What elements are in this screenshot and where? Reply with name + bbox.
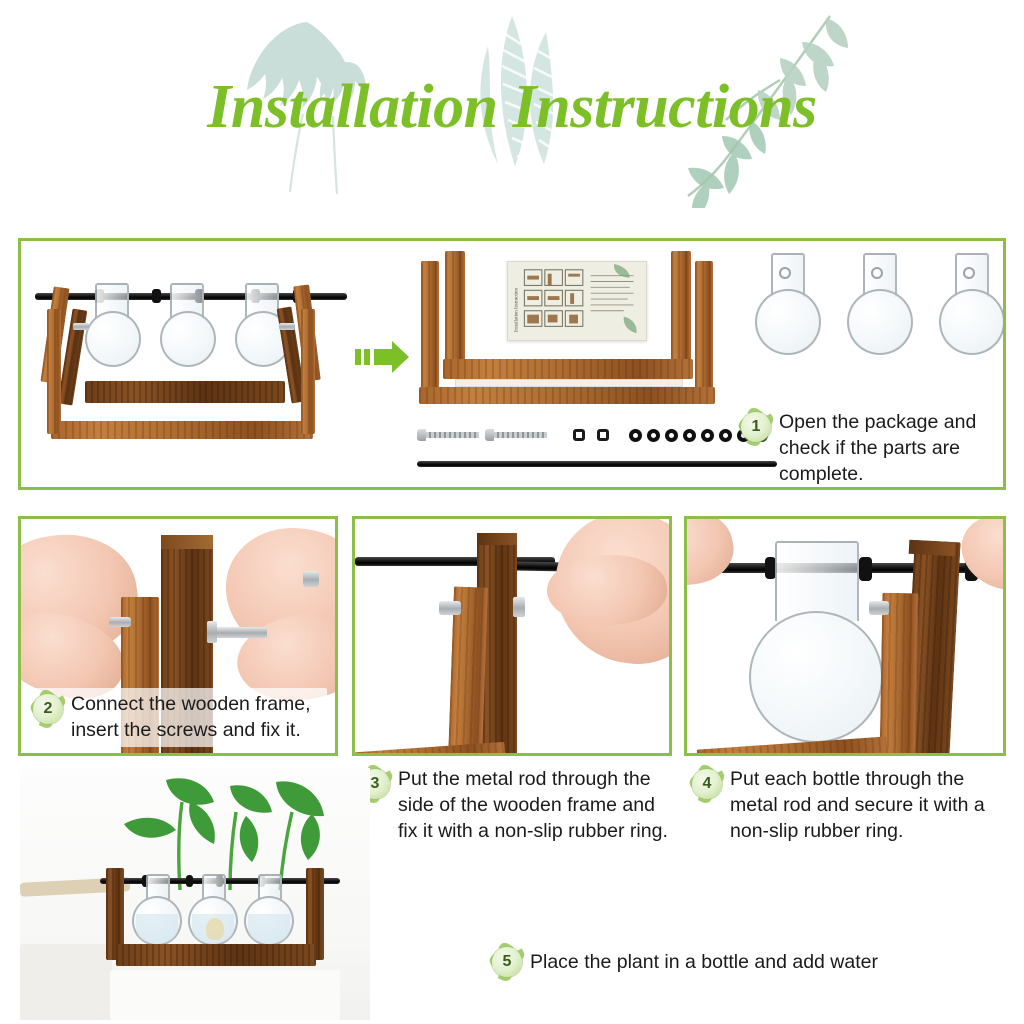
parts-overview-photo: Installation Instruction <box>21 241 1003 487</box>
screw-head <box>869 601 889 615</box>
rubber-ring-part <box>701 429 714 442</box>
metal-rod-part <box>417 461 777 467</box>
frame-piece-right-outer <box>695 261 713 389</box>
screw-in-hand <box>303 571 319 587</box>
glass-bottle-single <box>841 253 919 381</box>
screw-head-left <box>73 323 89 330</box>
step-1-badge: 1 <box>739 410 773 444</box>
screw-head <box>439 601 461 615</box>
frame-upright-front <box>880 593 919 756</box>
assemble-frame-photo: 2 Connect the wooden frame, insert the s… <box>21 519 335 753</box>
screw-1 <box>417 429 479 441</box>
screw-head-right <box>279 323 295 330</box>
hardware-photo <box>413 419 725 479</box>
screw-inserted-right <box>209 627 267 638</box>
glass-bottle-neck <box>775 541 859 621</box>
finished-product-photo <box>20 768 370 1020</box>
glass-bottle-with-water <box>130 874 186 948</box>
stand-base <box>116 944 316 966</box>
rubber-ring <box>152 289 161 303</box>
table-surface <box>110 970 340 1020</box>
step-3-badge: 3 <box>358 767 392 801</box>
frame-leg-left <box>47 309 61 434</box>
instruction-card: Installation Instruction <box>507 261 647 341</box>
step-5-number: 5 <box>490 945 524 979</box>
step-4-number: 4 <box>690 767 724 801</box>
step-3-number: 3 <box>358 767 392 801</box>
rubber-ring <box>859 557 872 581</box>
parts-overview-panel: Installation Instruction <box>18 238 1006 490</box>
frame-base <box>51 421 313 439</box>
rubber-ring-part <box>683 429 696 442</box>
step-4-badge: 4 <box>690 767 724 801</box>
svg-text:Installation Instruction: Installation Instruction <box>515 287 520 332</box>
neck-hole <box>871 267 883 279</box>
assembled-stand-photo <box>29 249 349 479</box>
frame-piece-base <box>419 387 715 404</box>
frame-leg-right <box>301 309 315 434</box>
frame-shelf <box>85 381 285 403</box>
glass-bottle-single <box>933 253 1006 381</box>
rod-sleeve <box>455 379 683 387</box>
green-arrow-icon <box>355 339 409 375</box>
glass-bottle <box>160 311 216 367</box>
hang-bottle-panel <box>684 516 1006 756</box>
step-1-caption: 1 Open the package and check if the part… <box>739 409 989 487</box>
plant-roots <box>206 918 224 940</box>
insert-rod-panel <box>352 516 672 756</box>
step-5-badge: 5 <box>490 945 524 979</box>
step-4-text: Put each bottle through the metal rod an… <box>730 766 1002 844</box>
neck-hole <box>963 267 975 279</box>
step-2-text: Connect the wooden frame, insert the scr… <box>71 691 321 743</box>
step-5-text: Place the plant in a bottle and add wate… <box>530 949 878 975</box>
step-5-caption: 5 Place the plant in a bottle and add wa… <box>490 944 960 979</box>
background-box <box>20 944 112 1020</box>
step-3-text: Put the metal rod through the side of th… <box>398 766 670 844</box>
header-banner: Installation Instructions <box>0 0 1024 232</box>
hex-nut-1 <box>573 429 585 441</box>
hang-bottle-photo <box>687 519 1003 753</box>
frame-piece-bottom <box>443 359 693 379</box>
glass-bottle <box>85 311 141 367</box>
glass-bottle-single <box>749 253 827 381</box>
screw-2 <box>485 429 547 441</box>
rubber-ring-part <box>647 429 660 442</box>
left-hand <box>684 516 740 594</box>
right-hand <box>955 516 1006 596</box>
glass-bottle-with-water <box>186 874 242 948</box>
hex-nut-2 <box>597 429 609 441</box>
neck-hole <box>779 267 791 279</box>
frame-base-edge <box>697 736 888 756</box>
step-2-badge: 2 <box>31 692 65 726</box>
screw-washer <box>207 621 217 643</box>
step-1-number: 1 <box>739 410 773 444</box>
step-4-caption: 4 Put each bottle through the metal rod … <box>690 766 1002 844</box>
frame-base-edge <box>355 742 506 756</box>
disassembled-frame-photo: Installation Instruction <box>413 247 725 407</box>
glass-bottle <box>749 611 883 743</box>
frame-piece-left-outer <box>421 261 439 389</box>
screw-inserted-left <box>109 617 131 627</box>
insert-rod-photo <box>355 519 669 753</box>
step-3-caption: 3 Put the metal rod through the side of … <box>358 766 670 844</box>
rubber-ring-part <box>629 429 642 442</box>
step-1-text: Open the package and check if the parts … <box>779 409 989 487</box>
step-2-number: 2 <box>31 692 65 726</box>
glass-bottles-photo <box>737 249 1006 389</box>
step-2-caption: 2 Connect the wooden frame, insert the s… <box>27 688 327 747</box>
instruction-sheet: Installation Instructions <box>0 0 1024 1024</box>
screw-nut <box>513 597 525 617</box>
page-title: Installation Instructions <box>0 72 1024 143</box>
assemble-frame-panel: 2 Connect the wooden frame, insert the s… <box>18 516 338 756</box>
glass-bottle-with-water <box>242 874 298 948</box>
rubber-ring-part <box>719 429 732 442</box>
rubber-ring-part <box>665 429 678 442</box>
